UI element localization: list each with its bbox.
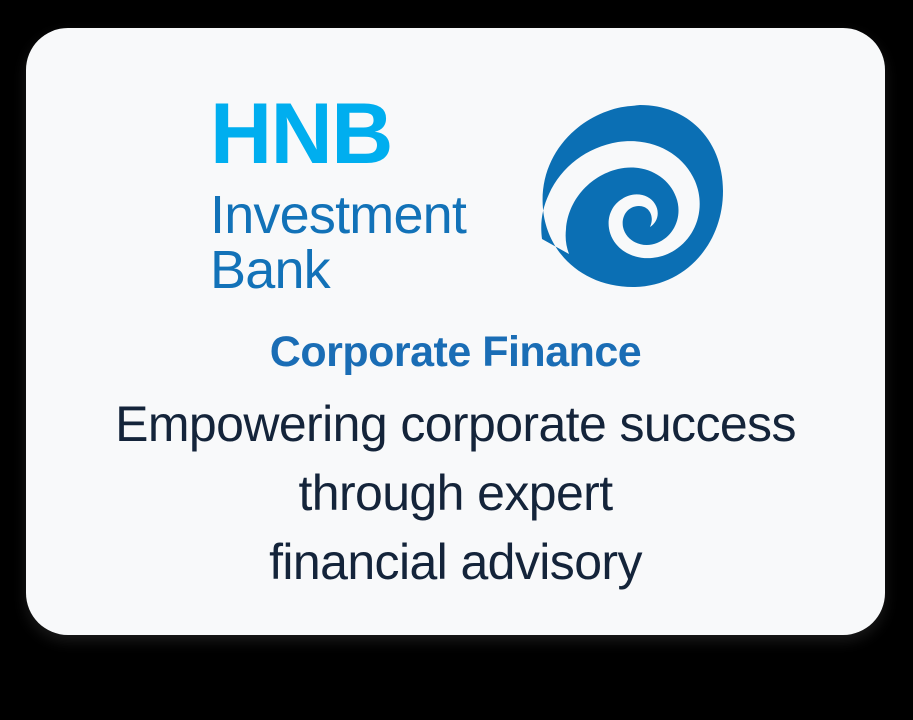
hnb-logo-lockup: HNB Investment Bank	[210, 98, 700, 298]
hnb-wordmark: HNB Investment Bank	[210, 98, 510, 298]
tagline-line-3: financial advisory	[26, 528, 885, 597]
headline-corporate-finance: Corporate Finance	[26, 326, 885, 378]
tagline-line-1: Empowering corporate success	[26, 390, 885, 459]
hnb-name-line-bank: Bank	[210, 243, 510, 298]
hnb-acronym-text: HNB	[210, 98, 510, 170]
tagline-block: Empowering corporate success through exp…	[26, 390, 885, 597]
tagline-line-2: through expert	[26, 459, 885, 528]
screenshot-canvas: HNB Investment Bank Corporate Finance Em…	[0, 0, 913, 720]
hnb-spiral-wave-mark-icon	[539, 105, 723, 287]
brand-card: HNB Investment Bank Corporate Finance Em…	[26, 28, 885, 635]
hnb-name-line-investment: Investment	[210, 188, 510, 243]
